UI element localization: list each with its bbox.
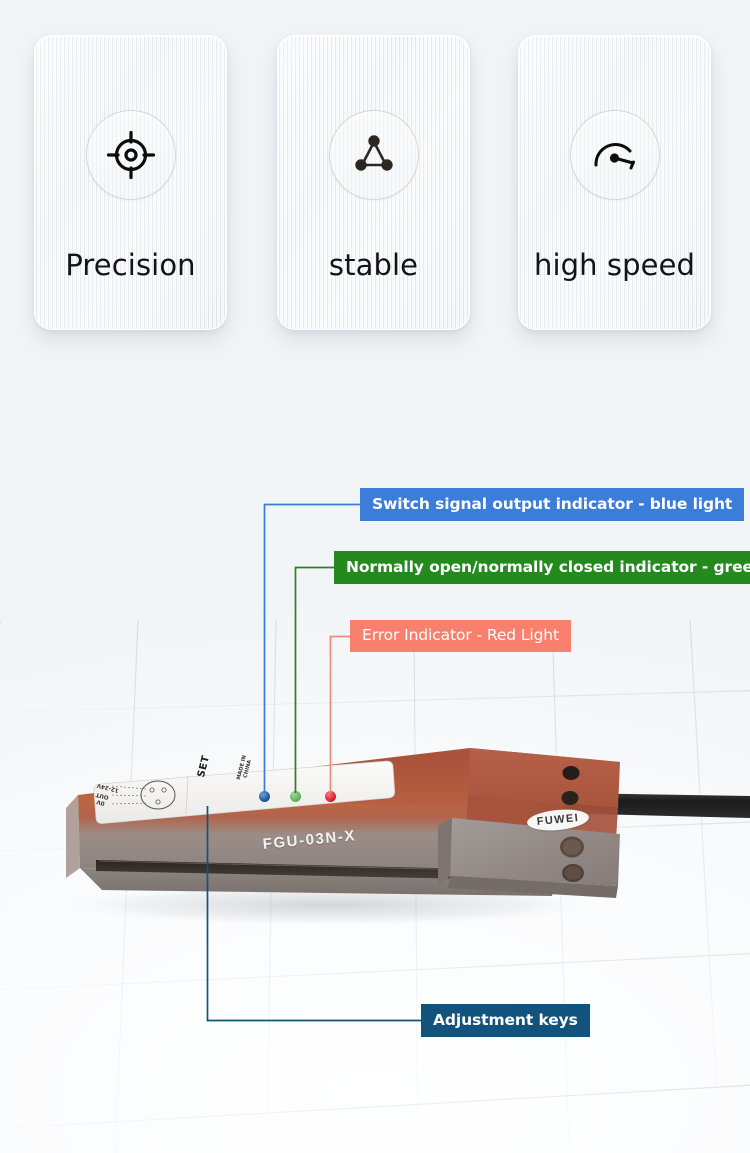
brand-name-text: FUWEI — [536, 812, 579, 828]
feature-card-row: Precision stable — [0, 0, 750, 345]
triangle-nodes-icon — [329, 110, 419, 200]
crosshair-target-icon — [86, 110, 176, 200]
red-indicator-led — [325, 791, 336, 802]
feature-card-label: high speed — [519, 248, 710, 282]
feature-card-label: Precision — [35, 248, 226, 282]
callout-green-indicator[interactable]: Normally open/normally closed indicator … — [334, 551, 750, 584]
feature-card-stable[interactable]: stable — [277, 35, 470, 330]
speedometer-gauge-icon — [570, 110, 660, 200]
callout-red-indicator[interactable]: Error Indicator - Red Light — [350, 620, 571, 652]
feature-card-precision[interactable]: Precision — [34, 35, 227, 330]
green-indicator-led — [290, 791, 301, 802]
callout-blue-indicator[interactable]: Switch signal output indicator - blue li… — [360, 488, 744, 521]
product-infographic-page: Precision stable — [0, 0, 750, 1153]
callout-adjustment-keys[interactable]: Adjustment keys — [421, 1004, 590, 1037]
feature-card-high-speed[interactable]: high speed — [518, 35, 711, 330]
blue-indicator-led — [259, 791, 270, 802]
feature-card-label: stable — [278, 248, 469, 282]
sensor-device-illustration — [0, 690, 750, 950]
